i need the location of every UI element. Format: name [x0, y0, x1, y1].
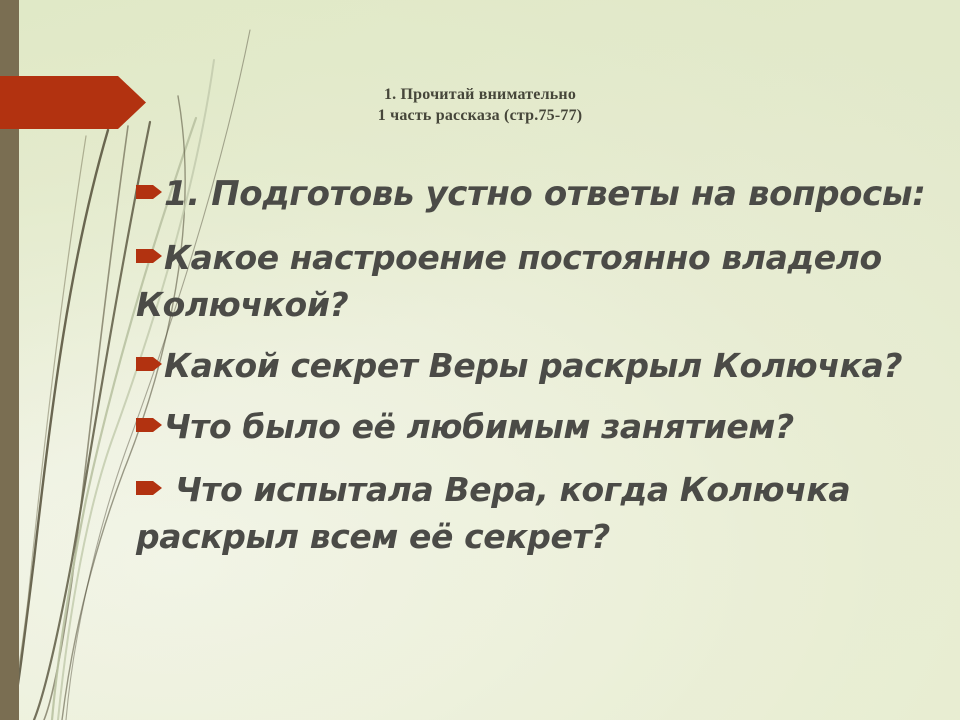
list-item: Какой секрет Веры раскрыл Колючка?	[136, 340, 936, 389]
list-item: Что испытала Вера, когда Колючка раскрыл…	[136, 464, 936, 560]
list-item-label: 1. Подготовь устно ответы на вопросы:	[164, 174, 925, 214]
list-item-label: Какое настроение постоянно владело Колюч…	[136, 238, 882, 324]
title-line-2: 1 часть рассказа (стр.75-77)	[180, 105, 780, 126]
list-item: Что было её любимым занятием?	[136, 401, 936, 450]
red-arrow-bullet-icon	[136, 461, 162, 477]
title-line-1: 1. Прочитай внимательно	[384, 86, 576, 103]
slide-title: 1. Прочитай внимательно 1 часть рассказа…	[180, 84, 780, 126]
red-arrow-bullet-icon	[136, 165, 162, 181]
list-item: Какое настроение постоянно владело Колюч…	[136, 232, 936, 328]
list-item-label: Какой секрет Веры раскрыл Колючка?	[164, 346, 902, 385]
red-arrow-bullet-icon	[136, 229, 162, 245]
bullet-list: 1. Подготовь устно ответы на вопросы: Ка…	[136, 168, 936, 571]
red-arrow-bullet-icon	[136, 398, 162, 414]
red-arrow-bullet-icon	[136, 337, 162, 353]
list-item: 1. Подготовь устно ответы на вопросы:	[136, 168, 936, 218]
slide-canvas: 1. Прочитай внимательно 1 часть рассказа…	[0, 0, 960, 720]
red-arrow-banner	[0, 76, 146, 129]
list-item-label: Что было её любимым занятием?	[164, 407, 794, 446]
list-item-label: Что испытала Вера, когда Колючка раскрыл…	[136, 470, 850, 556]
